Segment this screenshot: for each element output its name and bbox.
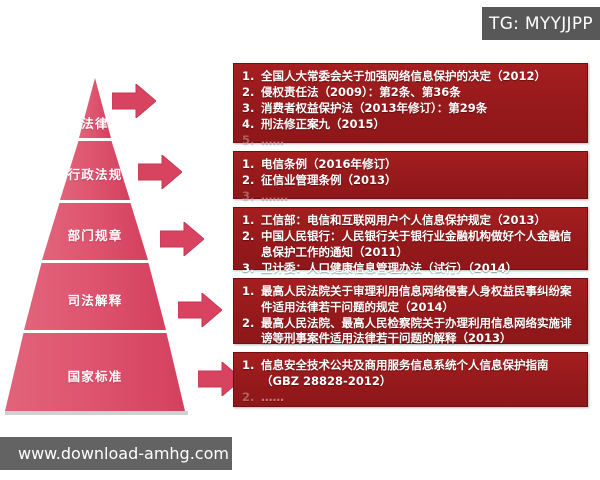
list-item-text: …… xyxy=(261,133,284,147)
list-item-number: 1. xyxy=(242,284,258,300)
list-item: 1. 工信部：电信和互联网用户个人信息保护规定（2013） xyxy=(240,213,579,229)
list-item-text: 最高人民法院关于审理利用信息网络侵害人身权益民事纠纷案件适用法律若干问题的规定（… xyxy=(261,284,572,314)
list-item: 2. 侵权责任法（2009）：第2条、第36条 xyxy=(240,85,579,101)
list-item-number: 3. xyxy=(242,189,258,205)
content-box-national-standard[interactable]: 1. 信息安全技术公共及商用服务信息系统个人信息保护指南（GBZ 28828-2… xyxy=(233,352,588,407)
telegram-watermark-badge: TG: MYYJJPP xyxy=(482,7,600,40)
list-item-number: 1. xyxy=(242,358,258,374)
pyramid-label-law: 法律 xyxy=(81,113,108,132)
list-item-number: 1. xyxy=(242,213,258,229)
list-item-number: 5. xyxy=(242,133,258,149)
pyramid-label-administrative-regulation: 行政法规 xyxy=(68,164,123,183)
list-item-number: 2. xyxy=(242,316,258,332)
diagram-canvas: TG: MYYJJPP 法律 行政法规 xyxy=(0,0,600,480)
list-item: 2. 中国人民银行：人民银行关于银行业金融机构做好个人金融信息保护工作的通知（2… xyxy=(240,229,579,260)
content-box-law[interactable]: 1. 全国人大常委会关于加强网络信息保护的决定（2012） 2. 侵权责任法（2… xyxy=(233,63,588,143)
list-item-text: ……. xyxy=(261,189,288,203)
site-watermark-badge: www.download-amhg.com xyxy=(0,437,232,470)
content-list-judicial-interpretation: 1. 最高人民法院关于审理利用信息网络侵害人身权益民事纠纷案件适用法律若干问题的… xyxy=(240,284,579,347)
list-item-number: 2. xyxy=(242,390,258,406)
list-item-number: 4. xyxy=(242,117,258,133)
list-item: 1. 最高人民法院关于审理利用信息网络侵害人身权益民事纠纷案件适用法律若干问题的… xyxy=(240,284,579,315)
list-item: 2. 征信业管理条例（2013） xyxy=(240,173,579,189)
content-list-national-standard: 1. 信息安全技术公共及商用服务信息系统个人信息保护指南（GBZ 28828-2… xyxy=(240,358,579,405)
list-item-text: 电信条例（2016年修订） xyxy=(261,157,397,171)
list-item: 1. 信息安全技术公共及商用服务信息系统个人信息保护指南（GBZ 28828-2… xyxy=(240,358,579,389)
list-item-number: 2. xyxy=(242,173,258,189)
list-item: 3. ……. xyxy=(240,189,579,205)
content-list-departmental-rule: 1. 工信部：电信和互联网用户个人信息保护规定（2013） 2. 中国人民银行：… xyxy=(240,213,579,276)
list-item-number: 3. xyxy=(242,261,258,277)
list-item: 4. 刑法修正案九（2015） xyxy=(240,117,579,133)
list-item-number: 2. xyxy=(242,85,258,101)
arrow-right-icon-judicial-interpretation xyxy=(178,293,222,327)
arrow-right-icon-departmental-rule xyxy=(160,222,204,256)
list-item-text: …… xyxy=(261,390,284,404)
list-item-number: 1. xyxy=(242,69,258,85)
list-item-text: 刑法修正案九（2015） xyxy=(261,117,385,131)
list-item-number: 3. xyxy=(242,101,258,117)
arrow-right-icon-law xyxy=(112,84,156,118)
list-item: 3. 消费者权益保护法（2013年修订）：第29条 xyxy=(240,101,579,117)
list-item-text: 中国人民银行：人民银行关于银行业金融机构做好个人金融信息保护工作的通知（2011… xyxy=(261,229,572,259)
content-box-administrative-regulation[interactable]: 1. 电信条例（2016年修订） 2. 征信业管理条例（2013） 3. ……. xyxy=(233,151,588,199)
list-item-text: 全国人大常委会关于加强网络信息保护的决定（2012） xyxy=(261,69,546,83)
list-item-text: 最高人民法院、最高人民检察院关于办理利用信息网络实施诽谤等刑事案件适用法律若干问… xyxy=(261,316,572,346)
list-item-text: 卫计委：人口健康信息管理办法（试行）（2014） xyxy=(261,261,517,275)
list-item: 5. …… xyxy=(240,133,579,149)
list-item-number: 2. xyxy=(242,229,258,245)
list-item: 1. 电信条例（2016年修订） xyxy=(240,157,579,173)
list-item-text: 侵权责任法（2009）：第2条、第36条 xyxy=(261,85,461,99)
list-item: 1. 全国人大常委会关于加强网络信息保护的决定（2012） xyxy=(240,69,579,85)
list-item-text: 征信业管理条例（2013） xyxy=(261,173,397,187)
content-box-departmental-rule[interactable]: 1. 工信部：电信和互联网用户个人信息保护规定（2013） 2. 中国人民银行：… xyxy=(233,207,588,270)
arrow-right-icon-administrative-regulation xyxy=(138,155,182,189)
pyramid-label-judicial-interpretation: 司法解释 xyxy=(68,290,123,309)
list-item-text: 消费者权益保护法（2013年修订）：第29条 xyxy=(261,101,487,115)
list-item: 3. 卫计委：人口健康信息管理办法（试行）（2014） xyxy=(240,261,579,277)
list-item-text: 工信部：电信和互联网用户个人信息保护规定（2013） xyxy=(261,213,546,227)
list-item: 2. 最高人民法院、最高人民检察院关于办理利用信息网络实施诽谤等刑事案件适用法律… xyxy=(240,316,579,347)
content-list-law: 1. 全国人大常委会关于加强网络信息保护的决定（2012） 2. 侵权责任法（2… xyxy=(240,69,579,149)
content-list-administrative-regulation: 1. 电信条例（2016年修订） 2. 征信业管理条例（2013） 3. ……. xyxy=(240,157,579,205)
telegram-watermark-text: TG: MYYJJPP xyxy=(489,14,593,34)
list-item: 2. …… xyxy=(240,390,579,406)
list-item-number: 1. xyxy=(242,157,258,173)
pyramid-base-shadow xyxy=(5,411,188,415)
pyramid-label-national-standard: 国家标准 xyxy=(68,366,123,385)
site-watermark-text: www.download-amhg.com xyxy=(18,444,229,463)
pyramid-label-departmental-rule: 部门规章 xyxy=(68,225,123,244)
content-box-judicial-interpretation[interactable]: 1. 最高人民法院关于审理利用信息网络侵害人身权益民事纠纷案件适用法律若干问题的… xyxy=(233,278,588,344)
list-item-text: 信息安全技术公共及商用服务信息系统个人信息保护指南（GBZ 28828-2012… xyxy=(261,358,549,388)
